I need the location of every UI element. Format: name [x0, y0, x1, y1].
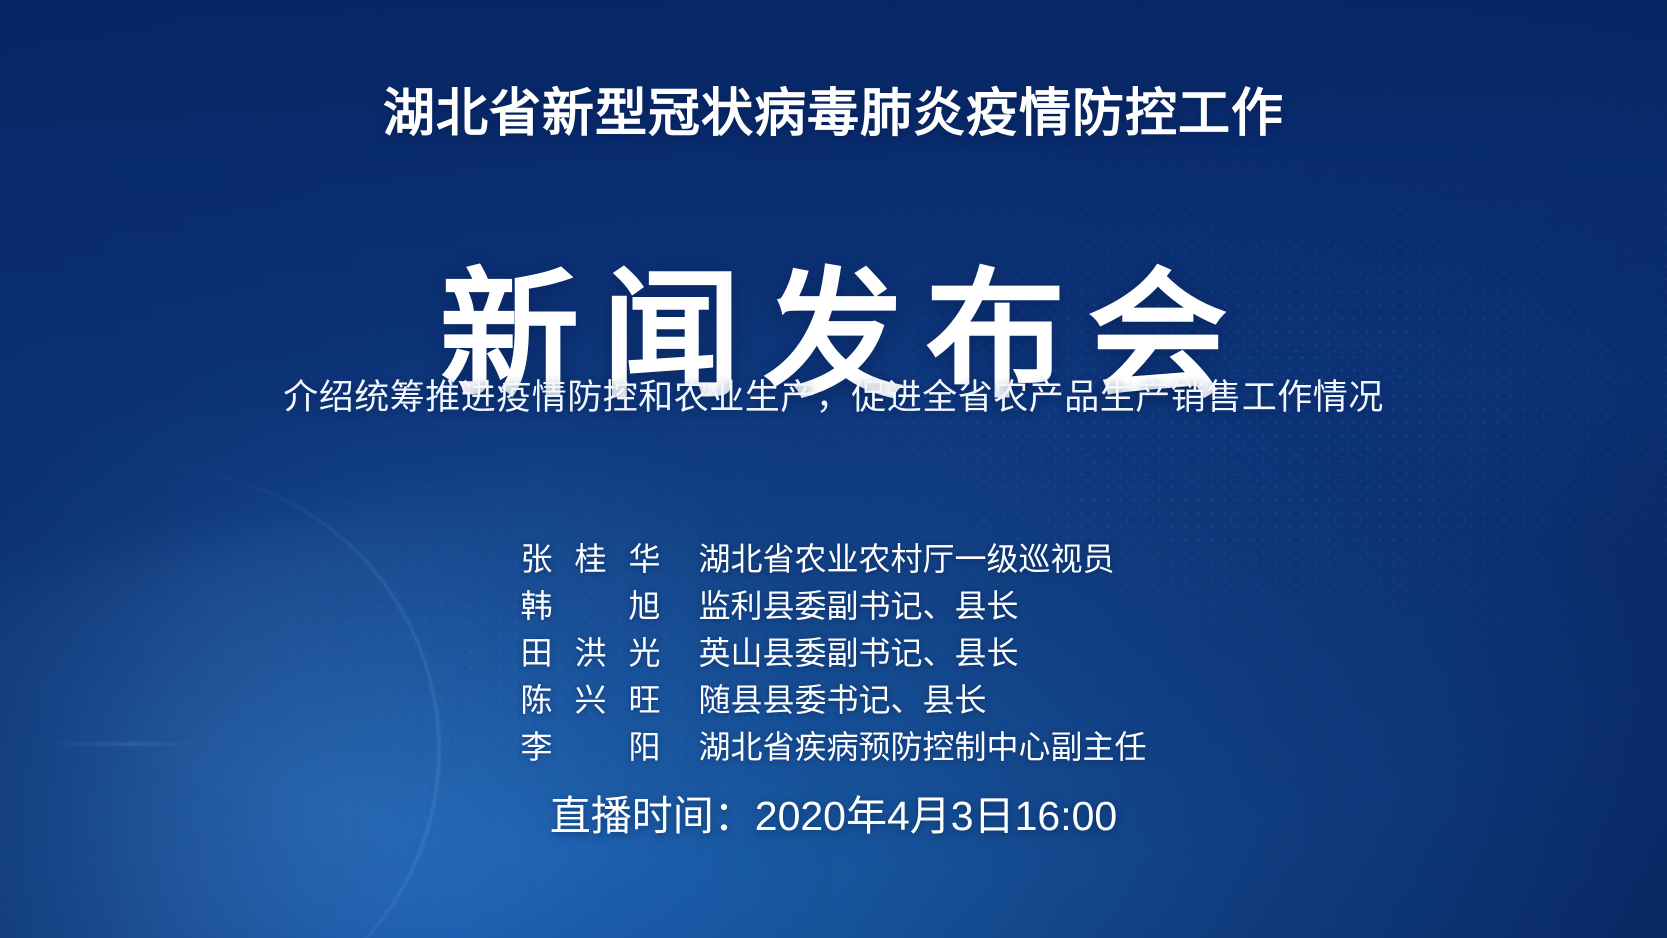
speaker-roster: 张桂华 湖北省农业农村厅一级巡视员 韩旭 监利县委副书记、县长 田洪光 英山县委…	[520, 536, 1146, 771]
speaker-title: 湖北省疾病预防控制中心副主任	[698, 724, 1146, 771]
speaker-name: 陈兴旺	[520, 677, 666, 724]
speaker-name: 李阳	[520, 724, 666, 771]
speaker-name: 张桂华	[520, 536, 666, 583]
roster-row: 田洪光 英山县委副书记、县长	[520, 630, 1146, 677]
broadcast-time: 直播时间：2020年4月3日16:00	[0, 792, 1667, 841]
speaker-title: 英山县委副书记、县长	[698, 630, 1018, 677]
speaker-title: 监利县委副书记、县长	[698, 583, 1018, 630]
roster-row: 张桂华 湖北省农业农村厅一级巡视员	[520, 536, 1146, 583]
press-conference-poster: 湖北省新型冠状病毒肺炎疫情防控工作 新闻发布会 介绍统筹推进疫情防控和农业生产，…	[0, 0, 1667, 938]
speaker-name: 田洪光	[520, 630, 666, 677]
poster-subtitle: 介绍统筹推进疫情防控和农业生产，促进全省农产品生产销售工作情况	[0, 376, 1667, 420]
speaker-title: 随县县委书记、县长	[698, 677, 986, 724]
poster-content: 湖北省新型冠状病毒肺炎疫情防控工作 新闻发布会 介绍统筹推进疫情防控和农业生产，…	[0, 0, 1667, 938]
roster-row: 韩旭 监利县委副书记、县长	[520, 583, 1146, 630]
speaker-name: 韩旭	[520, 583, 666, 630]
speaker-title: 湖北省农业农村厅一级巡视员	[698, 536, 1114, 583]
roster-row: 陈兴旺 随县县委书记、县长	[520, 677, 1146, 724]
poster-eyebrow-title: 湖北省新型冠状病毒肺炎疫情防控工作	[0, 88, 1667, 140]
roster-row: 李阳 湖北省疾病预防控制中心副主任	[520, 724, 1146, 771]
